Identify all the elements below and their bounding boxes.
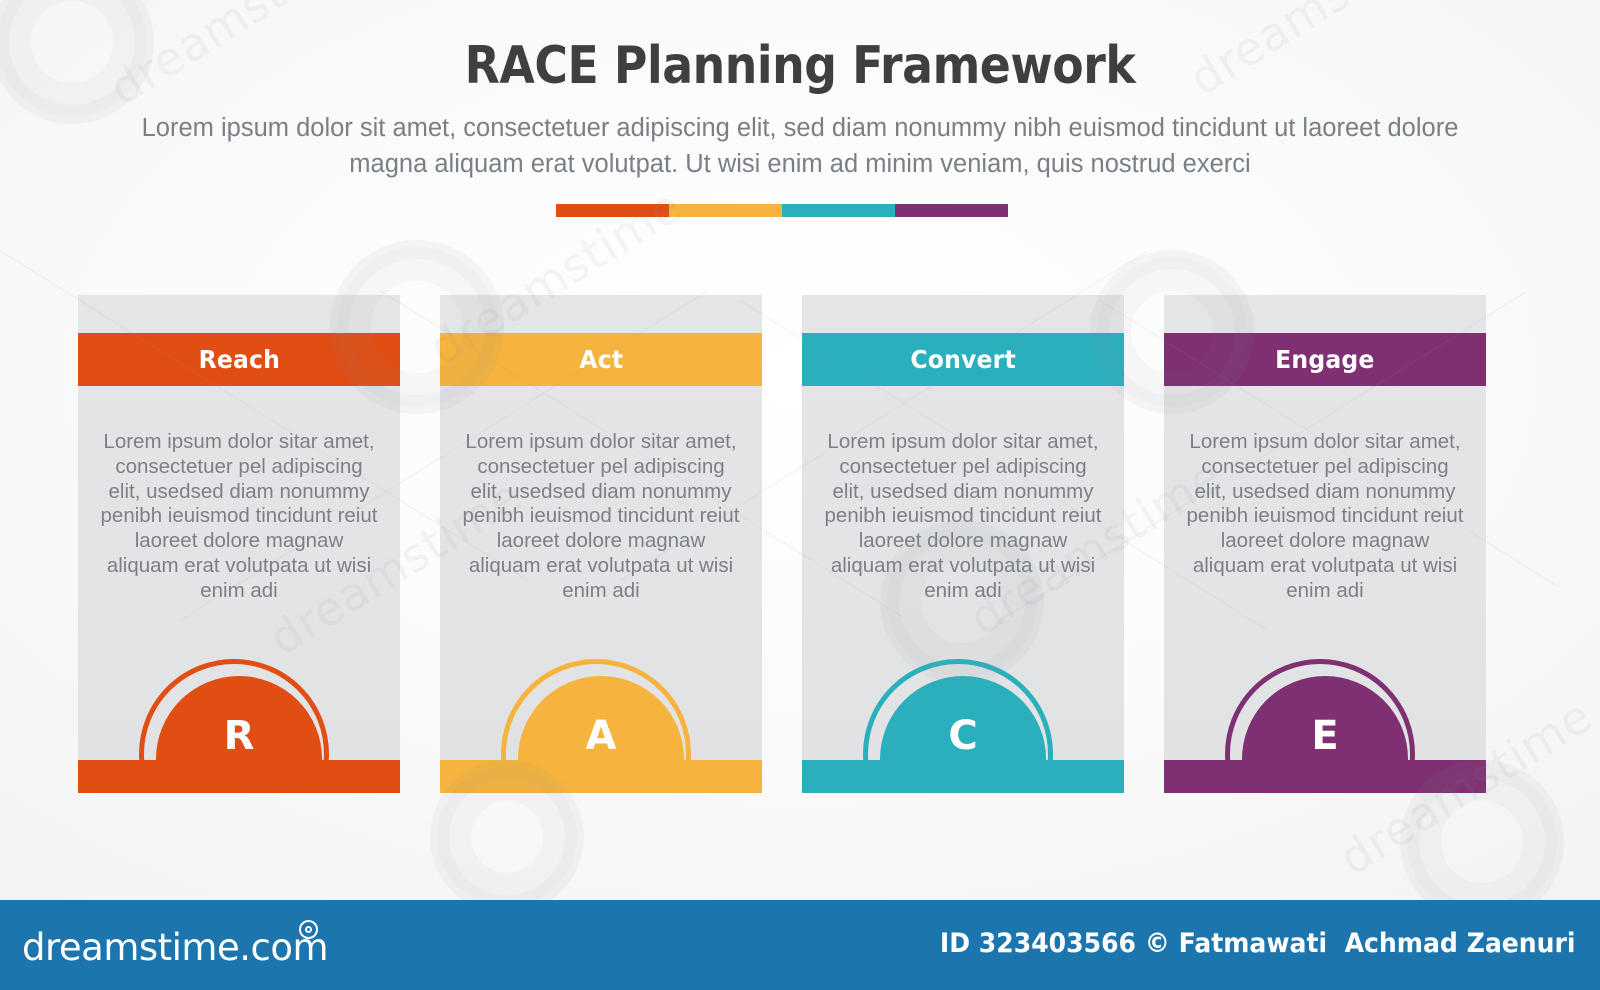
infographic-canvas: RACE Planning Framework Lorem ipsum dolo… (0, 0, 1600, 990)
badge-letter: C (863, 716, 1063, 756)
card-header-convert: Convert (802, 333, 1124, 386)
card-engage[interactable]: Engage Lorem ipsum dolor sitar amet, con… (1164, 295, 1486, 793)
divider-segment-1 (556, 204, 669, 217)
card-footer-bar (78, 760, 400, 793)
card-title: Reach (198, 345, 280, 374)
divider-segment-4 (895, 204, 1008, 217)
badge-letter: R (139, 716, 339, 756)
divider-segment-2 (669, 204, 782, 217)
card-reach[interactable]: Reach Lorem ipsum dolor sitar amet, cons… (78, 295, 400, 793)
card-title: Convert (910, 345, 1016, 374)
card-header-engage: Engage (1164, 333, 1486, 386)
badge-convert: C (863, 659, 1063, 760)
card-act[interactable]: Act Lorem ipsum dolor sitar amet, consec… (440, 295, 762, 793)
color-divider (556, 204, 1008, 217)
card-description: Lorem ipsum dolor sitar amet, consectetu… (460, 430, 742, 604)
card-title: Engage (1275, 345, 1374, 374)
dreamstime-logo[interactable]: dreamstime.com (22, 926, 328, 969)
footer-bar: dreamstime.com ID 323403566 © Fatmawati … (0, 900, 1600, 990)
card-footer-bar (440, 760, 762, 793)
card-description: Lorem ipsum dolor sitar amet, consectetu… (822, 430, 1104, 604)
card-header-reach: Reach (78, 333, 400, 386)
badge-act: A (501, 659, 701, 760)
badge-engage: E (1225, 659, 1425, 760)
page-title: RACE Planning Framework (96, 36, 1504, 96)
dreamstime-spiral-icon (299, 920, 318, 939)
card-header-act: Act (440, 333, 762, 386)
card-description: Lorem ipsum dolor sitar amet, consectetu… (1184, 430, 1466, 604)
image-credit: ID 323403566 © Fatmawati Achmad Zaenuri (940, 928, 1576, 959)
badge-letter: E (1225, 716, 1425, 756)
badge-letter: A (501, 716, 701, 756)
card-footer-bar (1164, 760, 1486, 793)
card-title: Act (579, 345, 623, 374)
badge-reach: R (139, 659, 339, 760)
card-description: Lorem ipsum dolor sitar amet, consectetu… (98, 430, 380, 604)
divider-segment-3 (782, 204, 895, 217)
card-convert[interactable]: Convert Lorem ipsum dolor sitar amet, co… (802, 295, 1124, 793)
card-footer-bar (802, 760, 1124, 793)
card-grid: Reach Lorem ipsum dolor sitar amet, cons… (78, 295, 1522, 795)
page-subtitle: Lorem ipsum dolor sit amet, consectetuer… (120, 110, 1480, 182)
